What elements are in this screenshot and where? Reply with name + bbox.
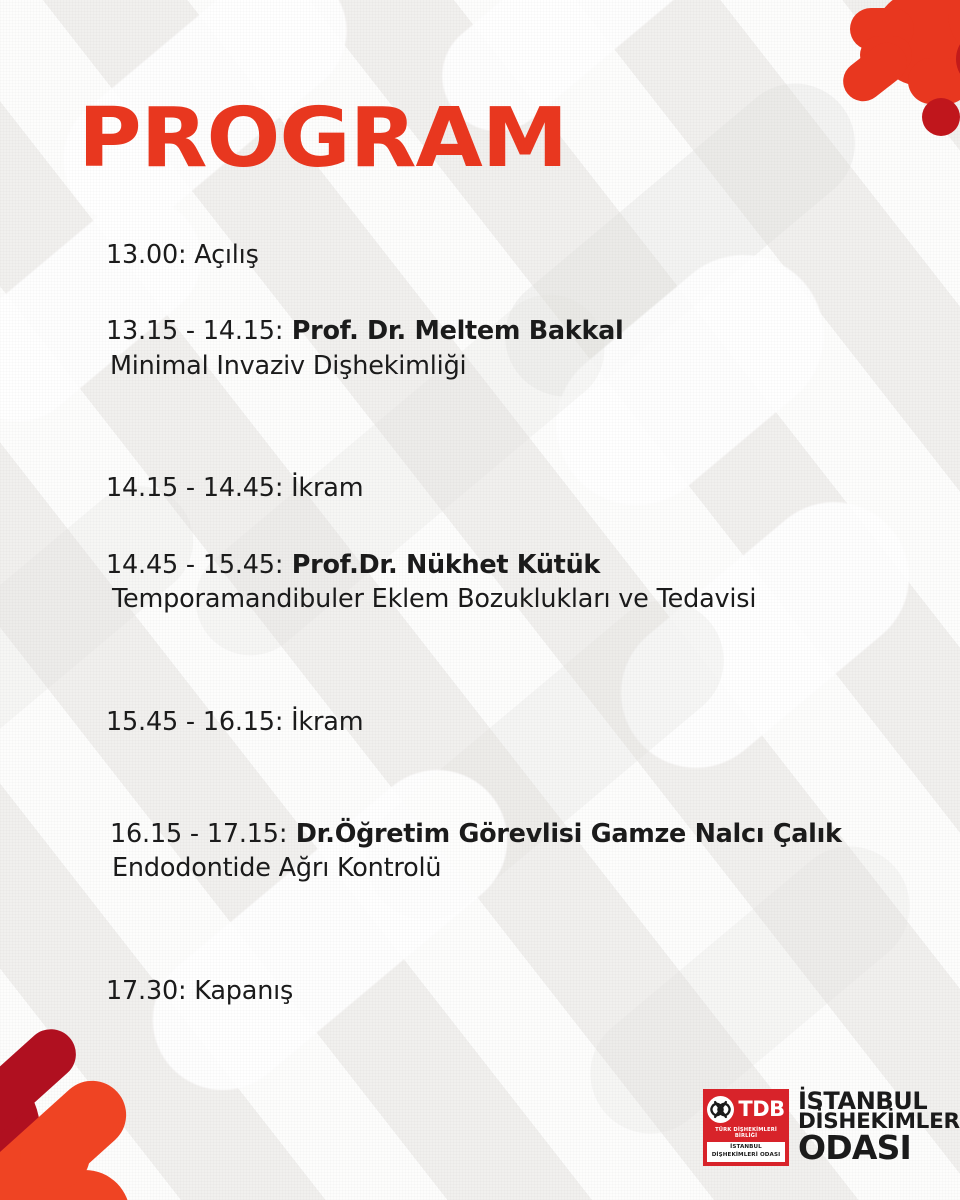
tdb-logo-mark: TDB TÜRK DİŞHEKİMLERİ BİRLİĞİ İSTANBUL D… [703, 1089, 789, 1166]
time-text: 13.15 - 14.15: [106, 316, 283, 346]
program-entry-time: 16.15 - 17.15: Dr.Öğretim Görevlisi Gamz… [106, 817, 906, 851]
speaker-name: Prof. Dr. Meltem Bakkal [283, 316, 623, 346]
splash-top-right [830, 0, 960, 160]
tdb-subbox-line1: İSTANBUL [707, 1144, 785, 1152]
program-entry: 15.45 - 16.15: İkram [106, 705, 906, 739]
tdb-caption: TÜRK DİŞHEKİMLERİ BİRLİĞİ [703, 1126, 789, 1142]
splash-dot [922, 98, 960, 136]
program-entry: 17.30: Kapanış [106, 974, 906, 1008]
program-poster: PROGRAM 13.00: Açılış 13.15 - 14.15: Pro… [0, 0, 960, 1200]
program-entry: 14.45 - 15.45: Prof.Dr. Nükhet Kütük Tem… [106, 548, 906, 617]
spacer [106, 298, 906, 314]
program-entry-time: 14.45 - 15.45: Prof.Dr. Nükhet Kütük [106, 548, 906, 582]
program-list: 13.00: Açılış 13.15 - 14.15: Prof. Dr. M… [106, 238, 906, 1034]
program-entry-topic: Minimal Invaziv Dişhekimliği [106, 349, 906, 383]
program-entry-time: 15.45 - 16.15: İkram [106, 705, 906, 739]
program-entry-time: 13.15 - 14.15: Prof. Dr. Meltem Bakkal [106, 314, 906, 348]
spacer [106, 409, 906, 471]
tdb-subbox-line2: DİŞHEKİMLERİ ODASI [707, 1152, 785, 1160]
tdb-knot-icon [707, 1096, 734, 1123]
program-entry-topic: Temporamandibuler Eklem Bozuklukları ve … [106, 582, 906, 616]
program-entry: 13.00: Açılış [106, 238, 906, 272]
splash-blob-bright [20, 1120, 90, 1190]
page-title: PROGRAM [78, 98, 567, 180]
time-text: 14.45 - 15.45: [106, 550, 283, 580]
splash-blob [908, 58, 960, 104]
spacer [106, 765, 906, 817]
spacer [106, 532, 906, 548]
program-entry: 14.15 - 14.45: İkram [106, 471, 906, 505]
logo-wordmark: İSTANBUL DİSHEKİMLERİ ODASI [798, 1089, 960, 1163]
organization-logo: TDB TÜRK DİŞHEKİMLERİ BİRLİĞİ İSTANBUL D… [703, 1089, 960, 1166]
program-entry: 13.15 - 14.15: Prof. Dr. Meltem Bakkal M… [106, 314, 906, 383]
tdb-letters: TDB [738, 1099, 784, 1120]
spacer [106, 912, 906, 974]
time-text: 16.15 - 17.15: [110, 819, 287, 849]
program-entry-time: 17.30: Kapanış [106, 974, 906, 1008]
logo-word-odasi: ODASI [798, 1133, 960, 1163]
program-entry-time: 14.15 - 14.45: İkram [106, 471, 906, 505]
speaker-name: Prof.Dr. Nükhet Kütük [283, 550, 600, 580]
program-entry-time: 13.00: Açılış [106, 238, 906, 272]
program-entry-topic: Endodontide Ağrı Kontrolü [106, 851, 906, 885]
program-entry: 16.15 - 17.15: Dr.Öğretim Görevlisi Gamz… [106, 817, 906, 886]
speaker-name: Dr.Öğretim Görevlisi Gamze Nalcı Çalık [287, 819, 841, 849]
tdb-subbox: İSTANBUL DİŞHEKİMLERİ ODASI [707, 1142, 785, 1162]
spacer [106, 643, 906, 705]
tdb-logo-top: TDB [702, 1089, 789, 1126]
splash-bottom-left [0, 1020, 200, 1200]
